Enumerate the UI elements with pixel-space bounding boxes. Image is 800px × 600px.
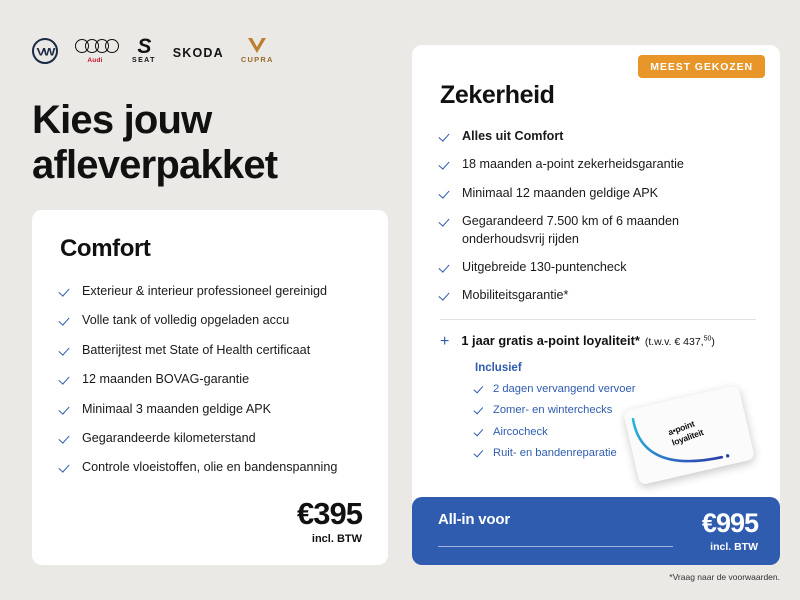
list-item: Minimaal 3 maanden geldige APK [60, 401, 362, 418]
zekerheid-package-card[interactable]: MEEST GEKOZEN Zekerheid Alles uit Comfor… [412, 45, 780, 565]
check-icon [60, 462, 71, 473]
loyalty-bonus-label: 1 jaar gratis a-point loyaliteit* [461, 333, 640, 348]
seat-icon: S [137, 37, 150, 57]
zekerheid-card-title: Zekerheid [440, 81, 756, 110]
section-divider [440, 319, 756, 320]
all-in-price-subtext: incl. BTW [702, 541, 758, 553]
check-icon [440, 131, 451, 142]
zekerheid-feature-label: Minimaal 12 maanden geldige APK [462, 185, 658, 202]
list-item: Gegarandeerd 7.500 km of 6 maanden onder… [440, 213, 756, 248]
list-item: Alles uit Comfort [440, 128, 756, 145]
comfort-price-subtext: incl. BTW [297, 533, 362, 545]
list-item: Controle vloeistoffen, olie en bandenspa… [60, 459, 362, 476]
audi-logo: Audi [75, 36, 115, 64]
loyalty-value-suffix: ) [711, 336, 715, 348]
list-item: Mobiliteitsgarantie* [440, 287, 756, 304]
brand-logo-row: VW Audi S SEAT SKODA CUPRA [32, 30, 386, 64]
list-item: 12 maanden BOVAG-garantie [60, 371, 362, 388]
inclusief-item-label: Aircocheck [493, 425, 548, 440]
list-item: Batterijtest met State of Health certifi… [60, 342, 362, 359]
loyalty-value-prefix: (t.w.v. € 437, [645, 336, 704, 348]
check-icon [60, 404, 71, 415]
skoda-logo: SKODA [173, 46, 224, 64]
check-icon [475, 384, 484, 393]
list-item: Minimaal 12 maanden geldige APK [440, 185, 756, 202]
check-icon [440, 159, 451, 170]
decorative-rule [438, 546, 673, 547]
volkswagen-logo: VW [32, 38, 58, 64]
list-item: Gegarandeerde kilometerstand [60, 430, 362, 447]
zekerheid-feature-label: Uitgebreide 130-puntencheck [462, 259, 627, 276]
check-icon [440, 290, 451, 301]
inclusief-item-label: Zomer- en winterchecks [493, 403, 612, 418]
status-badge: MEEST GEKOZEN [638, 55, 765, 78]
seat-logo: S SEAT [132, 37, 156, 64]
check-icon [475, 448, 484, 457]
check-icon [440, 188, 451, 199]
check-icon [60, 433, 71, 444]
loyalty-bonus-value: (t.w.v. € 437,50) [645, 336, 715, 348]
comfort-price-block: €395 incl. BTW [297, 498, 362, 545]
page-title-line2: afleverpakket [32, 143, 277, 187]
list-item: Exterieur & interieur professioneel gere… [60, 283, 362, 300]
list-item: Volle tank of volledig opgeladen accu [60, 312, 362, 329]
zekerheid-feature-label: Alles uit Comfort [462, 128, 563, 145]
check-icon [60, 345, 71, 356]
list-item: Uitgebreide 130-puntencheck [440, 259, 756, 276]
comfort-feature-list: Exterieur & interieur professioneel gere… [60, 283, 362, 477]
check-icon [440, 216, 451, 227]
check-icon [60, 286, 71, 297]
all-in-price: €995 [702, 511, 758, 537]
comfort-feature-label: Controle vloeistoffen, olie en bandenspa… [82, 459, 337, 476]
zekerheid-feature-label: Mobiliteitsgarantie* [462, 287, 568, 304]
cupra-icon [248, 38, 266, 53]
all-in-label: All-in voor [438, 511, 510, 528]
zekerheid-feature-label: Gegarandeerd 7.500 km of 6 maanden onder… [462, 213, 756, 248]
page-title-line1: Kies jouw [32, 98, 212, 142]
inclusief-item-label: 2 dagen vervangend vervoer [493, 382, 635, 397]
check-icon [440, 262, 451, 273]
seat-logo-label: SEAT [132, 57, 156, 64]
zekerheid-feature-list: Alles uit Comfort 18 maanden a-point zek… [440, 128, 756, 305]
volkswagen-icon: VW [32, 38, 58, 64]
comfort-price: €395 [297, 498, 362, 529]
inclusief-label: Inclusief [475, 362, 756, 374]
inclusief-item-label: Ruit- en bandenreparatie [493, 446, 617, 461]
comfort-feature-label: Volle tank of volledig opgeladen accu [82, 312, 289, 329]
all-in-price-bar[interactable]: All-in voor €995 incl. BTW [412, 497, 780, 565]
cupra-logo: CUPRA [241, 38, 274, 64]
audi-logo-label: Audi [87, 57, 102, 64]
comfort-feature-label: Gegarandeerde kilometerstand [82, 430, 256, 447]
list-item: 18 maanden a-point zekerheidsgarantie [440, 156, 756, 173]
check-icon [475, 405, 484, 414]
comfort-feature-label: Exterieur & interieur professioneel gere… [82, 283, 327, 300]
volkswagen-mark-text: VW [37, 45, 54, 56]
skoda-logo-label: SKODA [173, 46, 224, 60]
page-title: Kies jouw afleverpakket [32, 98, 332, 188]
check-icon [60, 315, 71, 326]
comfort-feature-label: Minimaal 3 maanden geldige APK [82, 401, 271, 418]
comfort-feature-label: 12 maanden BOVAG-garantie [82, 371, 249, 388]
plus-icon: + [440, 334, 449, 350]
comfort-package-card[interactable]: Comfort Exterieur & interieur profession… [32, 210, 388, 565]
check-icon [475, 427, 484, 436]
audi-rings-icon [75, 36, 115, 56]
cupra-logo-label: CUPRA [241, 55, 274, 64]
zekerheid-feature-label: 18 maanden a-point zekerheidsgarantie [462, 156, 684, 173]
loyalty-bonus-row: + 1 jaar gratis a-point loyaliteit*(t.w.… [440, 333, 756, 349]
check-icon [60, 374, 71, 385]
comfort-card-title: Comfort [60, 235, 362, 263]
footnote: *Vraag naar de voorwaarden. [669, 572, 780, 582]
comfort-feature-label: Batterijtest met State of Health certifi… [82, 342, 310, 359]
